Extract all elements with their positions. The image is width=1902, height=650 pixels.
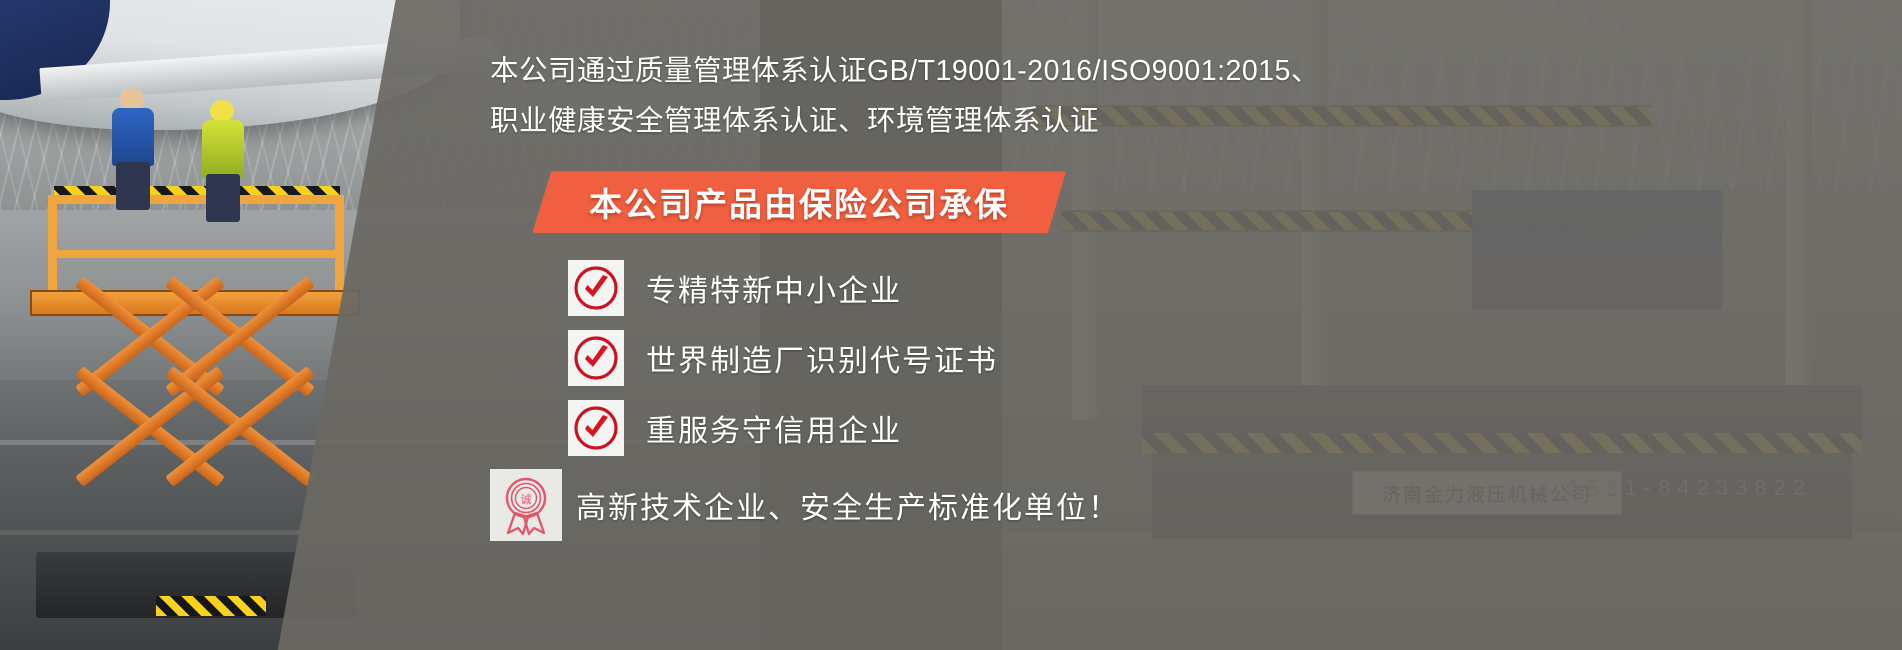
chassis-hazard-stripe xyxy=(156,596,266,616)
medal-char: 诚 xyxy=(521,493,532,506)
list-item: 重服务守信用企业 xyxy=(568,393,1110,463)
honor-label: 高新技术企业、安全生产标准化单位！ xyxy=(576,483,1120,527)
platform-guardrail xyxy=(48,195,344,291)
promo-banner: 济南金力液压机械公司 0531-84233822 本公司通过质量管理体系认证GB… xyxy=(0,0,1902,650)
certification-list: 专精特新中小企业 世界制造厂识别代号证书 重 xyxy=(490,253,1110,463)
integrity-medal-icon: 诚 xyxy=(490,469,562,541)
cart-serial-text: 0531-84233822 xyxy=(1567,475,1812,501)
list-item-label: 世界制造厂识别代号证书 xyxy=(646,336,998,380)
headline-line-2: 职业健康安全管理体系认证、环境管理体系认证 xyxy=(490,98,1110,144)
red-check-circle-icon xyxy=(568,330,624,386)
insurance-ribbon: 本公司产品由保险公司承保 xyxy=(532,171,1066,233)
red-check-circle-icon xyxy=(568,400,624,456)
cart-hazard-stripe xyxy=(1142,433,1862,453)
list-item: 专精特新中小企业 xyxy=(568,253,1110,323)
banner-content: 本公司通过质量管理体系认证GB/T19001-2016/ISO9001:2015… xyxy=(490,0,1110,650)
list-item: 世界制造厂识别代号证书 xyxy=(568,323,1110,393)
right-photo-factory: 济南金力液压机械公司 0531-84233822 xyxy=(1002,0,1902,650)
factory-roof-trusses xyxy=(1002,0,1902,190)
honor-row: 诚 高新技术企业、安全生产标准化单位！ xyxy=(490,469,1110,541)
worker-figure-1 xyxy=(110,88,156,208)
worker-figure-2 xyxy=(200,100,246,220)
scissor-lift-machine xyxy=(30,290,360,610)
list-item-label: 专精特新中小企业 xyxy=(646,266,902,310)
transfer-cart: 济南金力液压机械公司 0531-84233822 xyxy=(1142,385,1862,555)
blue-equipment xyxy=(1472,190,1722,310)
ribbon-label: 本公司产品由保险公司承保 xyxy=(532,171,1066,233)
headline-line-1: 本公司通过质量管理体系认证GB/T19001-2016/ISO9001:2015… xyxy=(490,0,1110,94)
lift-chassis xyxy=(36,552,356,618)
list-item-label: 重服务守信用企业 xyxy=(646,406,902,450)
red-check-circle-icon xyxy=(568,260,624,316)
